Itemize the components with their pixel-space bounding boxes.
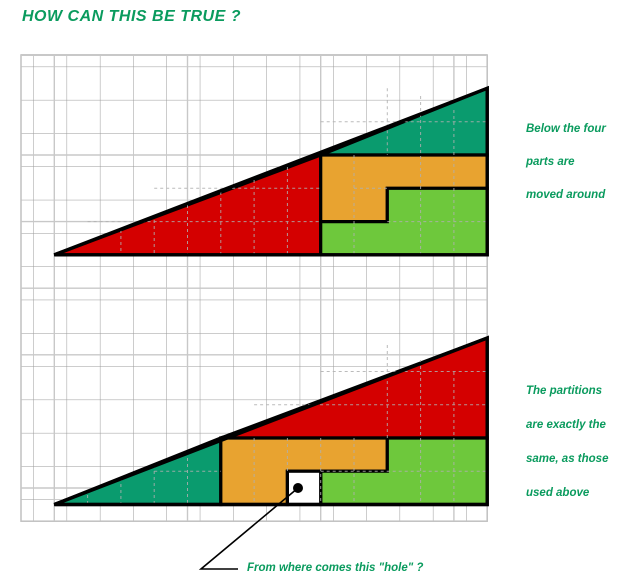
note-lower-line-4: used above xyxy=(526,487,589,500)
note-lower-line-3: same, as those xyxy=(526,453,608,466)
hole-square xyxy=(287,471,320,504)
note-upper-line-1: Below the four xyxy=(526,123,606,136)
puzzle-canvas: HOW CAN THIS BE TRUE ? xyxy=(0,0,624,588)
note-upper-line-3: moved around xyxy=(526,189,605,202)
note-lower-line-1: The partitions xyxy=(526,385,602,398)
hole-caption: From where comes this "hole" ? xyxy=(247,562,423,574)
note-upper-line-2: parts are xyxy=(526,156,575,169)
note-lower-line-2: are exactly the xyxy=(526,419,606,432)
